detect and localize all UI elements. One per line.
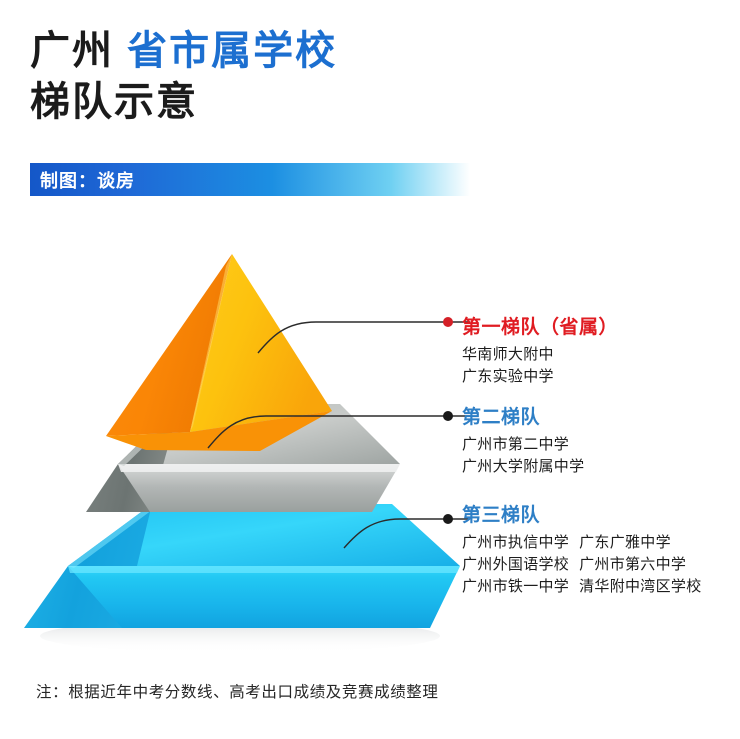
pyramid-graphic [0, 236, 470, 656]
middle-top-highlight [118, 464, 400, 472]
tier-3-school-2b: 广州市第六中学 [579, 554, 686, 576]
tier-1-school-1: 华南师大附中 [462, 344, 618, 366]
tier-3-heading: 第三梯队 [462, 506, 702, 527]
tier-3-row-3: 广州市铁一中学 清华附中湾区学校 [462, 576, 702, 598]
base-top-highlight [68, 566, 460, 573]
tier-2-school-2: 广州大学附属中学 [462, 456, 584, 478]
page-title-line-1: 广州 省市属学校 [30, 26, 590, 77]
footnote: 注：根据近年中考分数线、高考出口成绩及竞赛成绩整理 [36, 680, 439, 702]
tier-3-school-1b: 广东广雅中学 [579, 532, 671, 554]
page-title-line-2: 梯队示意 [30, 77, 590, 128]
tier-1-heading: 第一梯队（省属） [462, 318, 618, 339]
page-title-category: 省市属学校 [127, 29, 337, 73]
tier-3-row-2: 广州外国语学校 广州市第六中学 [462, 554, 702, 576]
infographic-page: 广州 省市属学校 梯队示意 制图：谈房 [0, 0, 740, 739]
tier-3-school-2a: 广州外国语学校 [462, 554, 569, 576]
base-front-face [68, 566, 460, 628]
tier-1-school-2: 广东实验中学 [462, 366, 618, 388]
leader-dot-tier-3 [443, 514, 453, 524]
header-block: 广州 省市属学校 梯队示意 [30, 26, 590, 128]
page-title-city: 广州 [30, 29, 114, 73]
tier-3-row-1: 广州市执信中学 广东广雅中学 [462, 532, 702, 554]
callout-tier-1: 第一梯队（省属） 华南师大附中 广东实验中学 [462, 318, 618, 388]
pyramid-level-apex [106, 254, 332, 451]
byline-text: 制图：谈房 [30, 167, 135, 193]
tier-3-school-3b: 清华附中湾区学校 [579, 576, 701, 598]
tier-3-school-3a: 广州市铁一中学 [462, 576, 569, 598]
pyramid-level-base [24, 504, 460, 628]
leader-dot-tier-2 [443, 411, 453, 421]
callout-tier-2: 第二梯队 广州市第二中学 广州大学附属中学 [462, 408, 584, 478]
callout-tier-3: 第三梯队 广州市执信中学 广东广雅中学 广州外国语学校 广州市第六中学 广州市铁… [462, 506, 702, 598]
tier-3-school-1a: 广州市执信中学 [462, 532, 569, 554]
tier-2-school-1: 广州市第二中学 [462, 434, 584, 456]
byline-banner: 制图：谈房 [30, 163, 470, 196]
leader-dot-tier-1 [443, 317, 453, 327]
tier-2-heading: 第二梯队 [462, 408, 584, 429]
